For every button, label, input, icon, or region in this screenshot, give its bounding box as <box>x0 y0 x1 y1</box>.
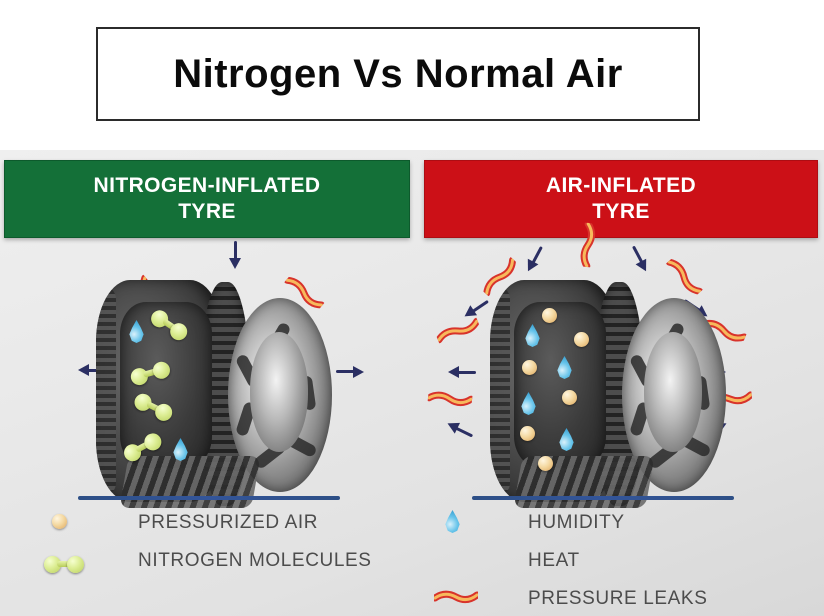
banner-nitrogen-line1: NITROGEN-INFLATED <box>94 173 321 199</box>
nitrogen-molecule-icon <box>40 544 98 578</box>
air-dot-icon <box>538 456 553 471</box>
panel-air-tyre: HUMIDITY HEAT PRESSURE LEAKS <box>412 238 824 616</box>
air-dot-icon <box>562 390 577 405</box>
pressure-leak-icon <box>427 390 472 409</box>
legend-item-heat: HEAT <box>432 542 822 580</box>
panel-nitrogen-tyre: PRESSURIZED AIR NITROGEN MOLECULES <box>0 238 412 616</box>
tyre-graphic-nitrogen <box>96 280 332 508</box>
legend-item-nitrogen-molecules: NITROGEN MOLECULES <box>40 542 420 580</box>
title-box: Nitrogen Vs Normal Air <box>96 27 700 121</box>
legend-label: HUMIDITY <box>528 512 625 534</box>
banner-nitrogen-line2: TYRE <box>178 199 236 225</box>
air-dot-icon <box>520 426 535 441</box>
air-dot-icon <box>574 332 589 347</box>
ground-line <box>78 496 340 500</box>
legend-nitrogen: PRESSURIZED AIR NITROGEN MOLECULES <box>40 504 420 580</box>
banner-air-line2: TYRE <box>592 199 650 225</box>
banner-air-inflated: AIR-INFLATED TYRE <box>424 160 818 238</box>
air-dot-icon <box>542 308 557 323</box>
tyre-graphic-air <box>490 280 726 508</box>
banner-nitrogen-inflated: NITROGEN-INFLATED TYRE <box>4 160 410 238</box>
arrow-up-right-icon <box>627 242 652 274</box>
comparison-board: NITROGEN-INFLATED TYRE AIR-INFLATED TYRE <box>0 150 824 616</box>
pressure-leak-icon <box>432 582 490 616</box>
orange-dot-icon <box>40 506 98 540</box>
arrow-right-icon <box>334 366 364 378</box>
infographic-canvas: Nitrogen Vs Normal Air NITROGEN-INFLATED… <box>0 0 824 616</box>
heat-icon <box>432 544 490 578</box>
legend-label: NITROGEN MOLECULES <box>138 550 372 572</box>
legend-item-pressure-leaks: PRESSURE LEAKS <box>432 580 822 616</box>
air-dot-icon <box>522 360 537 375</box>
page-title: Nitrogen Vs Normal Air <box>173 52 623 97</box>
legend-air: HUMIDITY HEAT PRESSURE LEAKS <box>432 504 822 616</box>
arrow-up-left-icon <box>523 242 548 274</box>
ground-line <box>472 496 734 500</box>
water-drop-icon <box>432 506 490 540</box>
legend-label: PRESSURE LEAKS <box>528 588 707 610</box>
legend-label: PRESSURIZED AIR <box>138 512 318 534</box>
pressure-leak-icon <box>435 316 481 345</box>
legend-item-pressurized-air: PRESSURIZED AIR <box>40 504 420 542</box>
arrow-down-left-icon <box>445 418 477 442</box>
arrow-left-icon <box>448 366 478 378</box>
legend-item-humidity: HUMIDITY <box>432 504 822 542</box>
arrow-up-icon <box>229 239 241 269</box>
arrow-up-left-icon <box>461 295 493 322</box>
banner-air-line1: AIR-INFLATED <box>546 173 696 199</box>
legend-label: HEAT <box>528 550 580 572</box>
